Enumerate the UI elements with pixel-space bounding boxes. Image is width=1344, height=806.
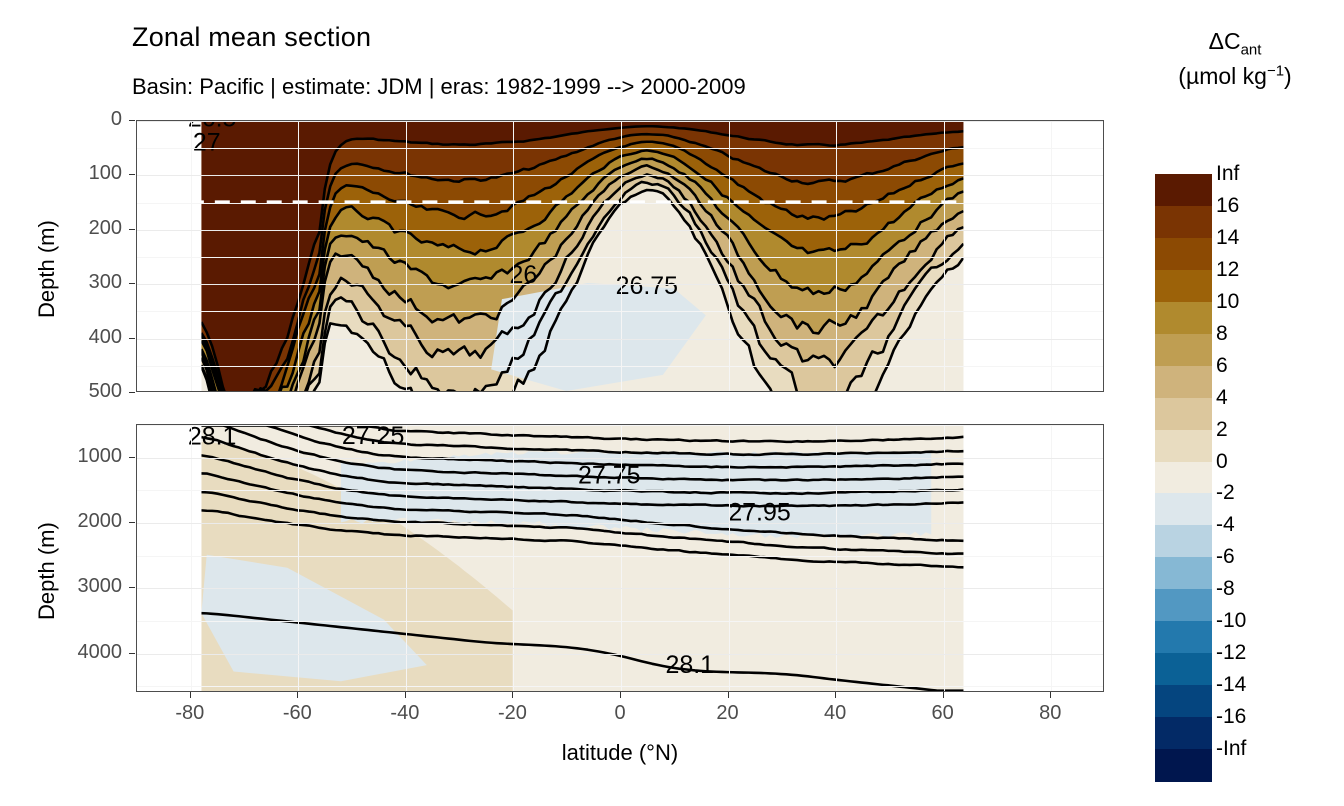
gridline-h: [137, 284, 1103, 285]
colorbar-tick-label: 2: [1216, 418, 1228, 442]
no-data-mask: [963, 121, 1103, 391]
colorbar-swatch: [1155, 238, 1212, 271]
y-tick-mark: [129, 120, 135, 121]
y-axis-title-upper: Depth (m): [34, 220, 60, 318]
upper-panel-canvas: 2626.7526.527: [137, 121, 1103, 391]
colorbar-tick-label: 14: [1216, 226, 1239, 250]
gridline-v-minor: [191, 121, 192, 391]
colorbar-tick-label: Inf: [1216, 162, 1239, 186]
x-tick-label: -60: [257, 702, 337, 725]
colorbar-tick-label: 6: [1216, 354, 1228, 378]
gridline-v-minor: [406, 425, 407, 691]
colorbar-tick-label: -Inf: [1216, 737, 1246, 761]
gridline-h-minor: [137, 686, 1103, 687]
y-tick-mark: [129, 522, 135, 523]
colorbar-swatch: [1155, 334, 1212, 367]
colorbar-tick-label: -2: [1216, 481, 1235, 505]
y-axis-title-lower: Depth (m): [34, 522, 60, 620]
colorbar-tick-label: -6: [1216, 545, 1235, 569]
gridline-h-minor: [137, 490, 1103, 491]
x-tick-mark: [1050, 692, 1051, 698]
colorbar-title-line1: ΔCant: [1209, 28, 1262, 54]
y-tick-label-lower: 4000: [32, 641, 122, 664]
y-tick-mark: [129, 587, 135, 588]
gridline-h: [137, 523, 1103, 524]
colorbar-swatch: [1155, 589, 1212, 622]
colorbar-swatch: [1155, 430, 1212, 463]
colorbar-swatches: [1155, 174, 1212, 781]
gridline-h: [137, 654, 1103, 655]
x-tick-label: 20: [688, 702, 768, 725]
gridline-h-minor: [137, 425, 1103, 426]
x-tick-label: 60: [903, 702, 983, 725]
colorbar-swatch: [1155, 206, 1212, 239]
colorbar-tick-label: -10: [1216, 609, 1246, 633]
colorbar-tick-label: 8: [1216, 322, 1228, 346]
plot-panel-upper: 2626.7526.527: [136, 120, 1104, 392]
gridline-v-minor: [298, 425, 299, 691]
page-title: Zonal mean section: [132, 22, 371, 53]
x-tick-mark: [943, 692, 944, 698]
colorbar-swatch: [1155, 398, 1212, 431]
x-tick-mark: [620, 692, 621, 698]
contour-label-27: 27: [193, 129, 221, 157]
colorbar-swatch: [1155, 717, 1212, 750]
y-tick-mark: [129, 338, 135, 339]
gridline-h-minor: [137, 148, 1103, 149]
colorbar-tick-label: -4: [1216, 513, 1235, 537]
colorbar-legend: ΔCant (µmol kg−1) Inf1614121086420-2-4-6…: [1150, 26, 1340, 766]
colorbar-swatch: [1155, 749, 1212, 782]
gridline-h-minor: [137, 621, 1103, 622]
contour-label-27.75: 27.75: [578, 461, 640, 489]
contour-label-26.75: 26.75: [616, 272, 678, 300]
contour-label-27.25: 27.25: [342, 425, 404, 450]
y-tick-mark: [129, 174, 135, 175]
y-tick-mark: [129, 457, 135, 458]
gridline-h: [137, 175, 1103, 176]
gridline-v-minor: [836, 425, 837, 691]
gridline-v-minor: [513, 425, 514, 691]
gridline-v-minor: [729, 425, 730, 691]
colorbar-tick-label: -14: [1216, 673, 1246, 697]
gridline-v-minor: [621, 425, 622, 691]
x-axis-title: latitude (°N): [136, 740, 1104, 766]
gridline-v-minor: [1051, 425, 1052, 691]
colorbar-tick-label: 4: [1216, 386, 1228, 410]
x-tick-label: -80: [150, 702, 230, 725]
colorbar-swatch: [1155, 653, 1212, 686]
colorbar-title: ΔCant (µmol kg−1): [1150, 26, 1320, 92]
y-tick-label-upper: 500: [32, 380, 122, 403]
y-tick-label-upper: 0: [32, 108, 122, 131]
y-tick-label-lower: 1000: [32, 445, 122, 468]
colorbar-swatch: [1155, 366, 1212, 399]
colorbar-tick-label: 12: [1216, 258, 1239, 282]
gridline-v-minor: [621, 121, 622, 391]
colorbar-swatch: [1155, 302, 1212, 335]
y-tick-label-upper: 400: [32, 326, 122, 349]
colorbar-tick-label: -16: [1216, 705, 1246, 729]
y-tick-mark: [129, 229, 135, 230]
gridline-v-minor: [191, 425, 192, 691]
y-tick-mark: [129, 283, 135, 284]
gridline-v-minor: [1051, 121, 1052, 391]
gridline-v-minor: [944, 425, 945, 691]
gridline-h: [137, 230, 1103, 231]
colorbar-tick-label: -12: [1216, 641, 1246, 665]
gridline-h: [137, 588, 1103, 589]
colorbar-tick-label: -8: [1216, 577, 1235, 601]
colorbar-tick-label: 10: [1216, 290, 1239, 314]
no-data-mask: [963, 425, 1103, 691]
gridline-v-minor: [836, 121, 837, 391]
x-tick-mark: [190, 692, 191, 698]
gridline-h-minor: [137, 366, 1103, 367]
x-tick-mark: [512, 692, 513, 698]
gridline-h-minor: [137, 257, 1103, 258]
gridline-v-minor: [406, 121, 407, 391]
lower-panel-canvas: 28.127.2527.7527.9528.1: [137, 425, 1103, 691]
gridline-h: [137, 121, 1103, 122]
colorbar-swatch: [1155, 685, 1212, 718]
x-tick-mark: [728, 692, 729, 698]
gridline-h: [137, 339, 1103, 340]
colorbar-swatch: [1155, 493, 1212, 526]
x-tick-label: 40: [795, 702, 875, 725]
gridline-h-minor: [137, 203, 1103, 204]
colorbar-swatch: [1155, 462, 1212, 495]
chart-root: Zonal mean section Basin: Pacific | esti…: [0, 0, 1344, 806]
y-tick-mark: [129, 653, 135, 654]
colorbar-swatch: [1155, 174, 1212, 207]
colorbar-swatch: [1155, 270, 1212, 303]
gridline-v-minor: [729, 121, 730, 391]
x-tick-label: -20: [472, 702, 552, 725]
colorbar-swatch: [1155, 621, 1212, 654]
x-tick-mark: [405, 692, 406, 698]
gridline-v-minor: [298, 121, 299, 391]
gridline-h-minor: [137, 311, 1103, 312]
gridline-h-minor: [137, 556, 1103, 557]
x-tick-label: 0: [580, 702, 660, 725]
colorbar-tick-label: 0: [1216, 450, 1228, 474]
x-tick-mark: [835, 692, 836, 698]
y-tick-label-upper: 100: [32, 162, 122, 185]
contour-label-28.1: 28.1: [188, 425, 237, 450]
x-tick-label: 80: [1010, 702, 1090, 725]
colorbar-tick-label: 16: [1216, 194, 1239, 218]
y-tick-mark: [129, 392, 135, 393]
colorbar-swatch: [1155, 525, 1212, 558]
x-tick-mark: [297, 692, 298, 698]
plot-panel-lower: 28.127.2527.7527.9528.1: [136, 424, 1104, 692]
colorbar-swatch: [1155, 557, 1212, 590]
gridline-v-minor: [944, 121, 945, 391]
page-subtitle: Basin: Pacific | estimate: JDM | eras: 1…: [132, 74, 746, 100]
colorbar-title-line2: (µmol kg−1): [1178, 63, 1291, 89]
x-tick-label: -40: [365, 702, 445, 725]
contour-label-28.1: 28.1: [665, 651, 714, 679]
gridline-v-minor: [513, 121, 514, 391]
gridline-h: [137, 458, 1103, 459]
